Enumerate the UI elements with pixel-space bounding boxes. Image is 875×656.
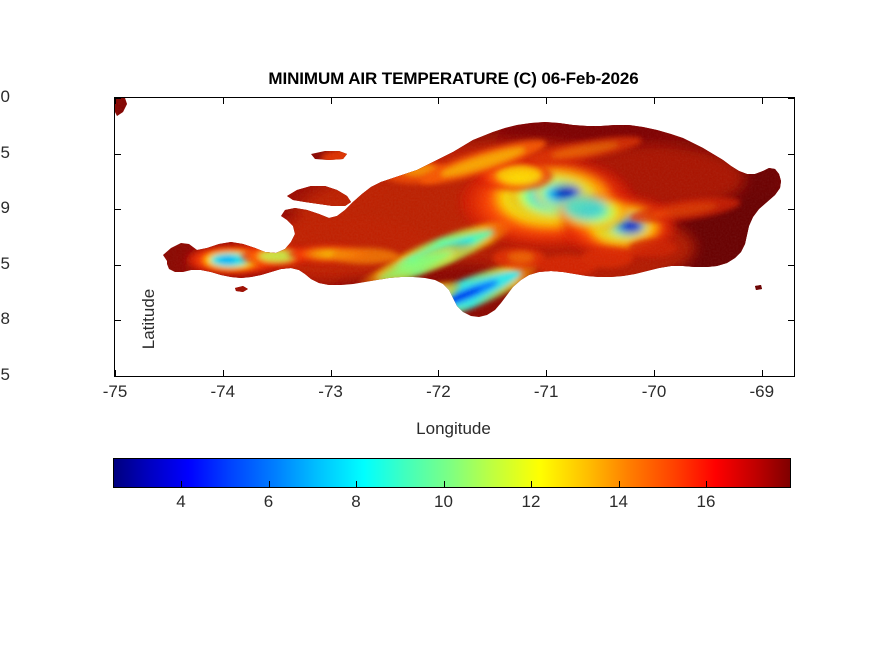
- colorbar-tick-10: [444, 481, 445, 488]
- y-tick-right-18-5: [788, 265, 795, 266]
- x-tick-top--71: [546, 97, 547, 104]
- y-tick-label-17-5: 17.5: [0, 365, 10, 385]
- colorbar-gradient: [113, 458, 791, 488]
- x-tick-label--69: -69: [727, 382, 797, 402]
- y-tick-19: [114, 209, 121, 210]
- map-axes[interactable]: 20 19.5 19 18.5 18 17.5 -75 -74 -73 -72 …: [114, 97, 795, 377]
- y-tick-right-19-5: [788, 154, 795, 155]
- x-tick--71: [546, 370, 547, 377]
- x-tick--73: [331, 370, 332, 377]
- x-tick-top--73: [331, 97, 332, 104]
- y-tick-label-19: 19: [0, 198, 10, 218]
- colorbar-tick-14: [619, 481, 620, 488]
- x-axis-title: Longitude: [114, 419, 793, 439]
- y-tick-18: [114, 320, 121, 321]
- x-tick--74: [223, 370, 224, 377]
- colorbar-tick-8: [356, 481, 357, 488]
- x-tick--75: [115, 370, 116, 377]
- y-tick-right-18: [788, 320, 795, 321]
- x-tick-label--71: -71: [511, 382, 581, 402]
- raster-body: [115, 98, 794, 376]
- y-tick-19-5: [114, 154, 121, 155]
- x-tick-top--70: [654, 97, 655, 104]
- y-tick-right-20: [788, 98, 795, 99]
- x-tick-top--69: [762, 97, 763, 104]
- x-tick-top--74: [223, 97, 224, 104]
- y-tick-right-17-5: [788, 376, 795, 377]
- colorbar-label-10: 10: [414, 492, 474, 512]
- y-tick-label-19-5: 19.5: [0, 143, 10, 163]
- y-tick-label-18-5: 18.5: [0, 254, 10, 274]
- colorbar-tick-6: [269, 481, 270, 488]
- colorbar-label-8: 8: [326, 492, 386, 512]
- colorbar-tick-16: [706, 481, 707, 488]
- colorbar-label-4: 4: [151, 492, 211, 512]
- y-axis-title: Latitude: [139, 239, 159, 399]
- temperature-raster: [115, 98, 794, 376]
- figure-canvas: MINIMUM AIR TEMPERATURE (C) 06-Feb-2026: [0, 0, 875, 656]
- colorbar-label-14: 14: [589, 492, 649, 512]
- x-tick-label--73: -73: [296, 382, 366, 402]
- x-tick--72: [438, 370, 439, 377]
- x-tick-top--75: [115, 97, 116, 104]
- colorbar-tick-4: [181, 481, 182, 488]
- page-title: MINIMUM AIR TEMPERATURE (C) 06-Feb-2026: [114, 69, 793, 89]
- y-tick-label-20: 20: [0, 87, 10, 107]
- colorbar-label-6: 6: [239, 492, 299, 512]
- colorbar[interactable]: 4 6 8 10 12 14 16: [113, 458, 791, 488]
- x-tick--69: [762, 370, 763, 377]
- y-tick-right-19: [788, 209, 795, 210]
- x-tick-label--74: -74: [188, 382, 258, 402]
- y-tick-label-18: 18: [0, 309, 10, 329]
- x-tick-top--72: [438, 97, 439, 104]
- colorbar-label-12: 12: [501, 492, 561, 512]
- y-tick-18-5: [114, 265, 121, 266]
- x-tick-label--72: -72: [403, 382, 473, 402]
- x-tick--70: [654, 370, 655, 377]
- x-tick-label--70: -70: [619, 382, 689, 402]
- colorbar-label-16: 16: [676, 492, 736, 512]
- colorbar-tick-12: [531, 481, 532, 488]
